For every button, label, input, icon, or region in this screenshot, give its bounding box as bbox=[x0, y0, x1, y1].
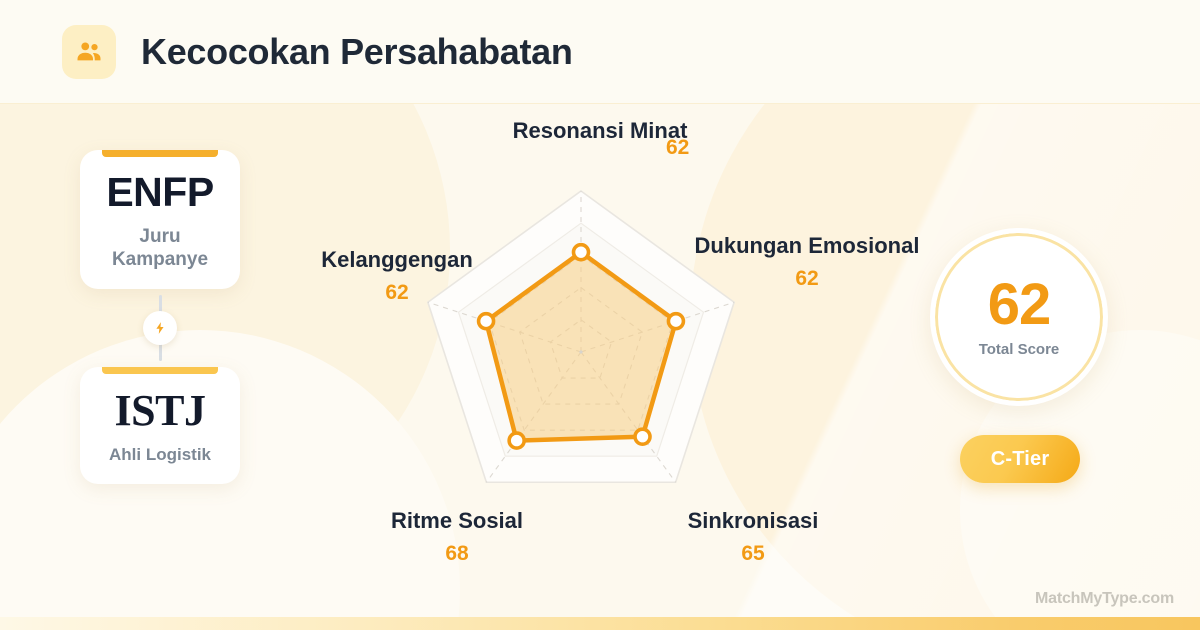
type-pair-panel: ENFP Juru Kampanye ISTJ Ahli Logistik bbox=[80, 150, 240, 484]
radar-axis-value-0: 62 bbox=[666, 136, 689, 161]
type-name-primary: Juru Kampanye bbox=[90, 225, 230, 271]
radar-axis-label-1: Dukungan Emosional 62 bbox=[682, 233, 932, 292]
radar-axis-value-2: 65 bbox=[628, 542, 878, 567]
page-header: Kecocokan Persahabatan bbox=[0, 0, 1200, 104]
type-card-primary[interactable]: ENFP Juru Kampanye bbox=[80, 150, 240, 289]
people-group-icon bbox=[62, 25, 116, 79]
radar-axis-text-3: Ritme Sosial bbox=[391, 508, 523, 533]
radar-point-4 bbox=[479, 314, 494, 329]
type-code-secondary: ISTJ bbox=[90, 389, 230, 433]
radar-axis-text-4: Kelanggengan bbox=[321, 247, 473, 272]
radar-axis-label-3: Ritme Sosial 68 bbox=[332, 508, 582, 567]
type-card-secondary[interactable]: ISTJ Ahli Logistik bbox=[80, 367, 240, 484]
score-panel: 62 Total Score C-Tier bbox=[930, 228, 1110, 483]
total-score-circle: 62 Total Score bbox=[930, 228, 1108, 406]
footer-gradient-bar bbox=[0, 617, 1200, 630]
radar-axis-label-0: Resonansi Minat 62 bbox=[480, 118, 720, 144]
radar-point-3 bbox=[509, 433, 524, 448]
radar-chart: Resonansi Minat 62 Dukungan Emosional 62… bbox=[300, 110, 920, 610]
type-name-secondary: Ahli Logistik bbox=[90, 445, 230, 466]
radar-axis-value-1: 62 bbox=[682, 267, 932, 292]
radar-point-2 bbox=[635, 429, 650, 444]
card-accent-bar bbox=[102, 150, 218, 157]
radar-axis-value-4: 62 bbox=[272, 281, 522, 306]
radar-axis-label-4: Kelanggengan 62 bbox=[272, 247, 522, 306]
radar-axis-label-2: Sinkronisasi 65 bbox=[628, 508, 878, 567]
radar-axis-text-0: Resonansi Minat bbox=[513, 118, 688, 143]
type-code-primary: ENFP bbox=[90, 172, 230, 213]
card-accent-bar bbox=[102, 367, 218, 374]
page-title: Kecocokan Persahabatan bbox=[141, 31, 573, 73]
total-score-caption: Total Score bbox=[979, 341, 1060, 358]
radar-axis-text-2: Sinkronisasi bbox=[688, 508, 819, 533]
radar-point-0 bbox=[574, 245, 589, 260]
radar-point-1 bbox=[668, 314, 683, 329]
type-connector bbox=[80, 289, 240, 367]
total-score-value: 62 bbox=[988, 276, 1051, 334]
lightning-bolt-icon bbox=[143, 311, 177, 345]
radar-axis-value-3: 68 bbox=[332, 542, 582, 567]
tier-badge: C-Tier bbox=[960, 435, 1080, 483]
radar-axis-text-1: Dukungan Emosional bbox=[695, 233, 920, 258]
infographic-canvas: Kecocokan Persahabatan ENFP Juru Kampany… bbox=[0, 0, 1200, 630]
brand-watermark: MatchMyType.com bbox=[1035, 590, 1174, 608]
